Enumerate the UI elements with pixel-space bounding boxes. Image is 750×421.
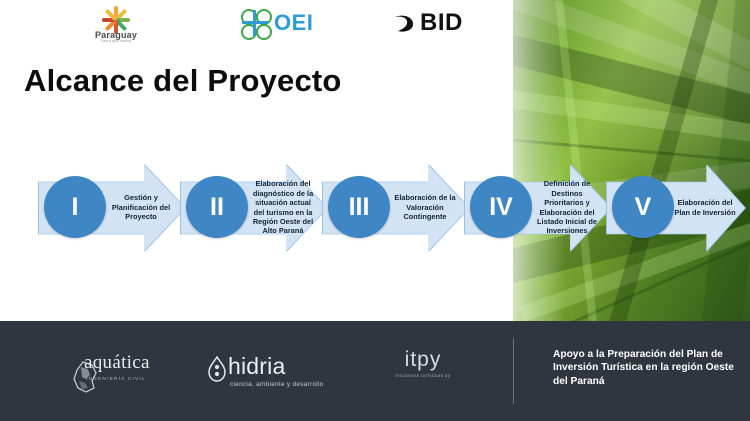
logo-aquatica: aquática INGENIERÍA CIVIL (62, 352, 167, 394)
flow-step-2[interactable]: II Elaboración del diagnóstico de la sit… (180, 150, 328, 265)
step-numeral-badge: III (328, 176, 390, 238)
step-numeral-badge: IV (470, 176, 532, 238)
flow-step-4[interactable]: IV Definición de Destinos Prioritarios y… (464, 150, 612, 265)
paraguay-tagline: Tierra que vuelve (80, 39, 152, 43)
step-numeral-badge: I (44, 176, 106, 238)
step-numeral-badge: V (612, 176, 674, 238)
footer-caption: Apoyo a la Preparación del Plan de Inver… (553, 348, 743, 388)
logo-hidria: hidria ciencia, ambiente y desarrollo (208, 356, 338, 396)
hidria-tagline: ciencia, ambiente y desarrollo (230, 381, 324, 388)
aquatica-tagline: INGENIERÍA CIVIL (86, 376, 146, 381)
oei-wordmark: OEI (274, 10, 313, 36)
step-label: Definición de Destinos Prioritarios y El… (534, 150, 600, 265)
water-drop-icon (208, 356, 226, 382)
slide: Paraguay Tierra que vuelve OEI BID Alcan… (0, 0, 750, 421)
page-title: Alcance del Proyecto (24, 63, 342, 99)
logo-bid: BID (392, 10, 488, 40)
itpy-tagline: iniciativas turísticas py (385, 374, 461, 379)
logo-paraguay: Paraguay Tierra que vuelve (80, 6, 152, 46)
flow-step-3[interactable]: III Elaboración de la Valoración Conting… (322, 150, 470, 265)
flow-step-1[interactable]: I Gestión y Planificación del Proyecto (38, 150, 186, 265)
flow-step-5[interactable]: V Elaboración del Plan de Inversión (606, 150, 746, 265)
footer-divider (513, 338, 514, 404)
hidria-wordmark: hidria (228, 353, 285, 380)
aquatica-wordmark: aquática (84, 352, 150, 374)
step-label: Elaboración de la Valoración Contingente (392, 150, 458, 265)
bid-mark-icon (392, 11, 416, 35)
step-label: Gestión y Planificación del Proyecto (110, 150, 172, 265)
step-numeral-badge: II (186, 176, 248, 238)
itpy-wordmark: itpy (385, 348, 461, 372)
logo-itpy: itpy iniciativas turísticas py (385, 348, 461, 392)
process-flow: I Gestión y Planificación del Proyecto I… (0, 150, 750, 265)
step-label: Elaboración del diagnóstico de la situac… (250, 150, 316, 265)
oei-mark-icon (240, 8, 270, 38)
bid-wordmark: BID (420, 9, 463, 37)
step-label: Elaboración del Plan de Inversión (672, 150, 738, 265)
logo-oei: OEI (240, 8, 336, 42)
